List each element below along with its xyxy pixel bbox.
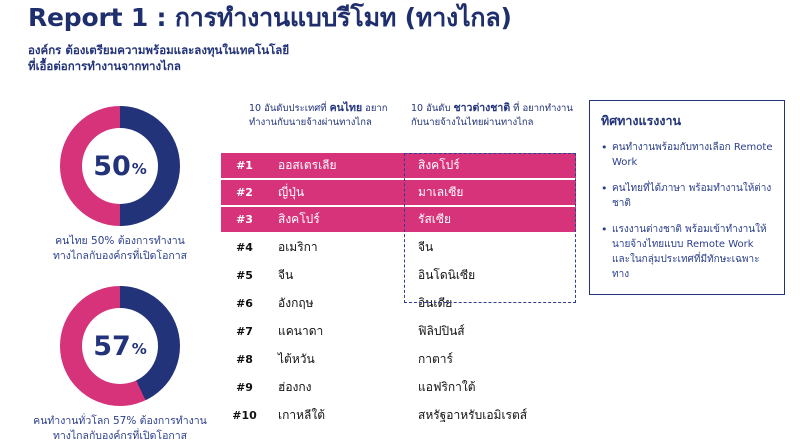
subtitle-line-2: ที่เอื้อต่อการทำงานจากทางไกล — [28, 58, 768, 75]
donut-value: 57 — [93, 333, 131, 360]
country-thai-cell: จีน — [268, 266, 404, 285]
insight-bullet-item: •แรงงานต่างชาติ พร้อมเข้าทำงานให้นายจ้าง… — [601, 222, 774, 282]
table-row: #5จีนอินโดนิเซีย — [221, 262, 576, 289]
country-foreign-cell: อินเดีย — [404, 294, 576, 313]
country-foreign-cell: แอฟริกาใต้ — [404, 378, 576, 397]
country-foreign-cell: ฟิลิปปินส์ — [404, 322, 576, 341]
table-row: #3สิงคโปร์รัสเซีย — [221, 207, 576, 232]
header: Report 1 : การทำงานแบบรีโมท (ทางไกล) องค… — [28, 4, 768, 75]
column-header-thai: 10 อันดับประเทศที่ คนไทย อยากทำงานกับนาย… — [249, 101, 414, 129]
rank-cell: #9 — [221, 381, 268, 394]
country-foreign-cell: กาตาร์ — [404, 350, 576, 369]
donut-caption-2: คนทำงานทั่วโลก 57% ต้องการทำงาน ทางไกลกั… — [20, 414, 220, 444]
column-header-foreign: 10 อันดับ ชาวต่างชาติ ที่ อยากทำงานกับนา… — [411, 101, 576, 129]
insight-panel-items: •คนทำงานพร้อมกับทางเลือก Remote Work•คนไ… — [601, 140, 774, 282]
column-header-foreign-pre: 10 อันดับ — [411, 103, 454, 114]
insight-panel-title: ทิศทางแรงงาน — [601, 111, 774, 131]
donut-percent-symbol: % — [132, 162, 147, 177]
rank-cell: #8 — [221, 353, 268, 366]
insight-bullet-text: แรงงานต่างชาติ พร้อมเข้าทำงานให้นายจ้างไ… — [612, 222, 774, 282]
country-foreign-cell: จีน — [404, 238, 576, 257]
country-thai-cell: อังกฤษ — [268, 294, 404, 313]
donut-value-label: 57% — [60, 286, 180, 406]
donut-caption-line-1: คนทำงานทั่วโลก 57% ต้องการทำงาน — [20, 414, 220, 429]
table-row: #1ออสเตรเลียสิงคโปร์ — [221, 153, 576, 178]
page-subtitle: องค์กร ต้องเตรียมความพร้อมและลงทุนในเทคโ… — [28, 42, 768, 75]
country-thai-cell: ญี่ปุ่น — [268, 183, 404, 202]
rank-cell: #10 — [221, 409, 268, 422]
donut-stat-block-1: 50% คนไทย 50% ต้องการทำงาน ทางไกลกับองค์… — [20, 106, 220, 264]
table-row: #6อังกฤษอินเดีย — [221, 290, 576, 317]
donut-chart-2: 57% — [60, 286, 180, 406]
donut-percent-symbol: % — [132, 342, 147, 357]
donut-caption-1: คนไทย 50% ต้องการทำงาน ทางไกลกับองค์กรที… — [20, 234, 220, 264]
country-foreign-cell: มาเลเซีย — [404, 183, 576, 202]
donut-value-label: 50% — [60, 106, 180, 226]
insight-bullet-item: •คนทำงานพร้อมกับทางเลือก Remote Work — [601, 140, 774, 170]
table-row: #10เกาหลีใต้สหรัฐอาหรับเอมิเรตส์ — [221, 402, 576, 429]
country-foreign-cell: รัสเซีย — [404, 210, 576, 229]
column-header-thai-bold: คนไทย — [330, 102, 363, 114]
table-row: #9ฮ่องกงแอฟริกาใต้ — [221, 374, 576, 401]
bullet-icon: • — [601, 140, 612, 170]
ranking-table: 10 อันดับประเทศที่ คนไทย อยากทำงานกับนาย… — [221, 101, 576, 430]
table-row: #7แคนาดาฟิลิปปินส์ — [221, 318, 576, 345]
country-thai-cell: อเมริกา — [268, 238, 404, 257]
insight-bullet-text: คนทำงานพร้อมกับทางเลือก Remote Work — [612, 140, 774, 170]
insight-panel: ทิศทางแรงงาน •คนทำงานพร้อมกับทางเลือก Re… — [589, 100, 785, 295]
page-title: Report 1 : การทำงานแบบรีโมท (ทางไกล) — [28, 4, 768, 33]
country-thai-cell: แคนาดา — [268, 322, 404, 341]
country-thai-cell: ไต้หวัน — [268, 350, 404, 369]
donut-chart-1: 50% — [60, 106, 180, 226]
bullet-icon: • — [601, 181, 612, 211]
rank-cell: #7 — [221, 325, 268, 338]
country-foreign-cell: อินโดนิเซีย — [404, 266, 576, 285]
bullet-icon: • — [601, 222, 612, 282]
table-row: #2ญี่ปุ่นมาเลเซีย — [221, 180, 576, 205]
rank-cell: #4 — [221, 241, 268, 254]
rank-cell: #5 — [221, 269, 268, 282]
column-header-thai-pre: 10 อันดับประเทศที่ — [249, 103, 330, 114]
donut-caption-line-2: ทางไกลกับองค์กรที่เปิดโอกาส — [20, 249, 220, 264]
donut-value: 50 — [93, 153, 131, 180]
insight-bullet-item: •คนไทยที่ได้ภาษา พร้อมทำงานให้ต่างชาติ — [601, 181, 774, 211]
rank-cell: #2 — [221, 186, 268, 199]
rank-cell: #6 — [221, 297, 268, 310]
column-header-foreign-bold: ชาวต่างชาติ — [454, 102, 511, 114]
ranking-column-headers: 10 อันดับประเทศที่ คนไทย อยากทำงานกับนาย… — [221, 101, 576, 153]
country-thai-cell: สิงคโปร์ — [268, 210, 404, 229]
subtitle-line-1: องค์กร ต้องเตรียมความพร้อมและลงทุนในเทคโ… — [28, 42, 768, 59]
rank-cell: #3 — [221, 213, 268, 226]
rank-cell: #1 — [221, 159, 268, 172]
country-foreign-cell: สหรัฐอาหรับเอมิเรตส์ — [404, 406, 576, 425]
table-row: #4อเมริกาจีน — [221, 234, 576, 261]
table-row: #8ไต้หวันกาตาร์ — [221, 346, 576, 373]
ranking-rows: #1ออสเตรเลียสิงคโปร์#2ญี่ปุ่นมาเลเซีย#3ส… — [221, 153, 576, 429]
insight-bullet-text: คนไทยที่ได้ภาษา พร้อมทำงานให้ต่างชาติ — [612, 181, 774, 211]
donut-stat-block-2: 57% คนทำงานทั่วโลก 57% ต้องการทำงาน ทางไ… — [20, 286, 220, 444]
donut-caption-line-2: ทางไกลกับองค์กรที่เปิดโอกาส — [20, 429, 220, 444]
country-thai-cell: ฮ่องกง — [268, 378, 404, 397]
country-thai-cell: ออสเตรเลีย — [268, 156, 404, 175]
country-foreign-cell: สิงคโปร์ — [404, 156, 576, 175]
country-thai-cell: เกาหลีใต้ — [268, 406, 404, 425]
donut-caption-line-1: คนไทย 50% ต้องการทำงาน — [20, 234, 220, 249]
